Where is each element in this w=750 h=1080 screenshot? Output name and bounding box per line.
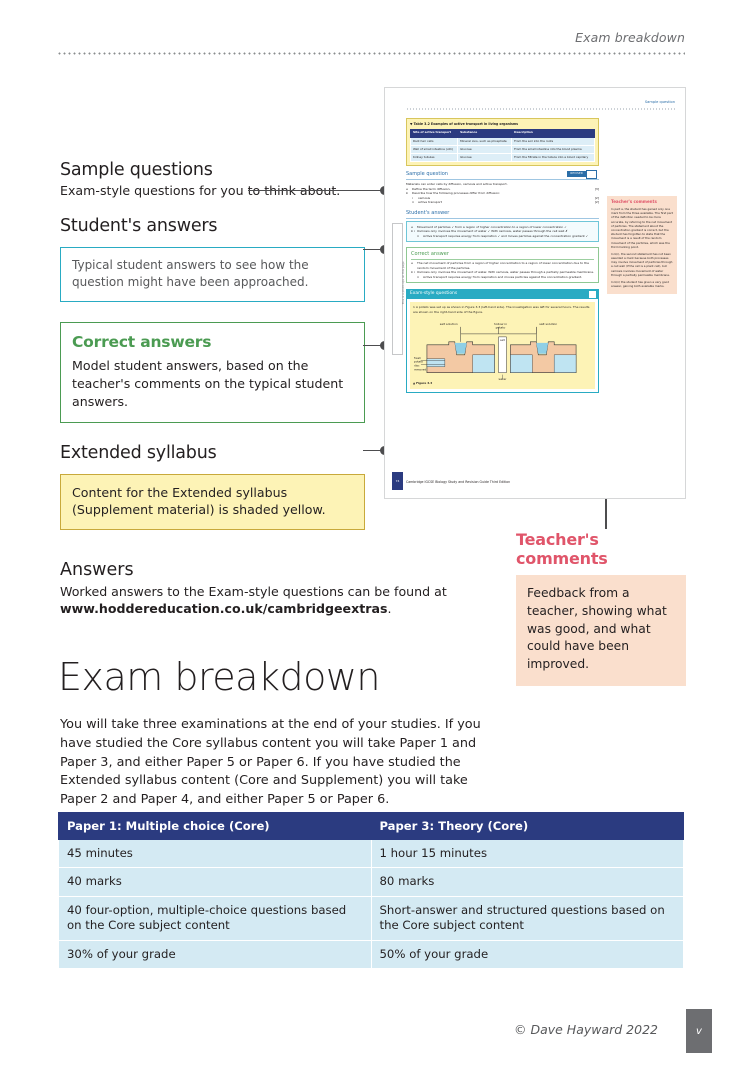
triangle-icon: ▼ [410,122,412,126]
table-cell: 40 four-option, multiple-choice question… [59,896,372,940]
preview-table-row: Kidney tubules Glucose From the filtrate… [411,154,595,162]
preview-table-panel: ▼ Table 3.2 Examples of active transport… [406,118,599,166]
figure-label: removed [414,368,427,372]
table-cell: 1 hour 15 minutes [371,840,684,868]
preview-question-items: a[3]Define the term diffusion. bDescribe… [406,187,599,205]
figure-label: salt solution [539,322,557,326]
preview-figure-caption: ▲ Figure 3.3 [413,382,592,386]
item-text: Describe how the following processes dif… [412,191,500,195]
preview-teacher-comments-box: Teacher's comments In part a, the studen… [607,196,677,294]
preview-students-answer-box: aMovement of particles ✓ from a region o… [406,221,599,243]
item-marks: [2] [595,200,599,205]
preview-teacher-comments-column: Teacher's comments In part a, the studen… [607,196,677,294]
preview-answer-item: iiActive transport requires energy from … [411,275,594,280]
answers-block: Answers Worked answers to the Exam-style… [60,560,480,617]
exam-breakdown-intro: You will take three examinations at the … [60,716,490,810]
teachers-comments-heading: Teacher's comments [516,530,686,568]
preview-figure-panel: 1 A potato was set up as shown in Figure… [410,302,595,389]
table-header-paper1: Paper 1: Multiple choice (Core) [59,813,372,840]
preview-table-caption: ▼ Table 3.2 Examples of active transport… [410,122,595,126]
potato-osmosis-figure: salt solution hollow in potato salt solu… [413,315,592,381]
exam-style-checkbox[interactable] [588,290,597,299]
preview-exam-style-heading: Exam-style questions [410,291,457,296]
preview-answer-item: aThe net movement of particles from a re… [411,261,594,270]
answers-line1: Worked answers to the Exam-style questio… [60,584,447,599]
running-head: Exam breakdown [57,30,685,45]
preview-side-tab: This is a photo ups on this page [392,223,403,355]
extended-syllabus-heading: Extended syllabus [60,443,365,463]
preview-td: From the soil into the roots [512,137,595,145]
item-text: Active transport requires energy from re… [423,275,582,279]
teachers-comments-box: Feedback from a teacher, showing what wa… [516,575,686,686]
preview-table-header-row: Site of active transport Substance Descr… [411,129,595,137]
preview-page-folio: 74 [392,472,403,490]
extended-syllabus-box-text: Content for the Extended syllabus (Suppl… [72,485,326,517]
item-text: active transport [418,200,442,204]
preview-students-answer-items: aMovement of particles ✓ from a region o… [411,225,594,239]
preview-td: From the small intestine into the blood … [512,146,595,154]
preview-teacher-comments-heading: Teacher's comments [611,199,673,205]
figure-label: salt [500,338,505,342]
correct-answers-box: Correct answers Model student answers, b… [60,322,365,423]
preview-book-footer: Cambridge IGCSE Biology Study and Revisi… [406,480,671,484]
item-text: Osmosis only involves the movement of wa… [417,229,568,233]
table-row: 40 four-option, multiple-choice question… [59,896,684,940]
header-dotted-rule [57,52,685,55]
table-cell: 45 minutes [59,840,372,868]
preview-td: Glucose [458,146,512,154]
book-page-preview: Sample question This is a photo ups on t… [384,87,686,499]
teachers-comments-callout: Teacher's comments Feedback from a teach… [516,530,686,686]
item-text: Movement of particles ✓ from a region of… [417,225,567,229]
preview-td: Wall of small intestine (villi) [411,146,458,154]
preview-students-answer-heading: Student's answer [406,210,599,219]
table-header-row: Paper 1: Multiple choice (Core) Paper 3:… [59,813,684,840]
preview-table-row: Wall of small intestine (villi) Glucose … [411,146,595,154]
item-text: The net movement of particles from a reg… [417,261,589,270]
students-answers-box-text: Typical student answers to see how the q… [72,258,309,289]
item-text: osmosis [418,196,430,200]
document-page: Exam breakdown Sample questions Exam-sty… [0,0,750,1080]
item-label: ii [417,275,419,280]
preview-table-row: Root hair cells Mineral ions, such as ph… [411,137,595,145]
table-cell: 40 marks [59,868,372,896]
preview-teacher-comment-paragraph: In b(ii) the student has given a very go… [611,280,673,288]
figure-label: salt solution [440,322,458,326]
preview-table: Site of active transport Substance Descr… [410,129,595,162]
preview-running-head: Sample question [645,100,675,105]
table-cell: 30% of your grade [59,940,372,968]
table-cell: 50% of your grade [371,940,684,968]
figure-label: water [499,377,508,380]
preview-correct-answer-box: Correct answer aThe net movement of part… [406,247,599,283]
page-title: Exam breakdown [58,655,380,699]
revised-badge: REVISED [567,171,586,177]
item-text: Active transport requires energy from re… [423,234,588,238]
answers-url[interactable]: www.hoddereducation.co.uk/cambridgeextra… [60,601,387,616]
answers-heading: Answers [60,560,480,580]
preview-question-stem: Materials can enter cells by diffusion, … [406,182,599,186]
preview-th: Description [512,129,595,137]
revised-checkbox[interactable] [586,170,597,179]
table-row: 45 minutes 1 hour 15 minutes [59,840,684,868]
preview-exam-style-body: 1 A potato was set up as shown in Figure… [406,299,599,393]
table-cell: Short-answer and structured questions ba… [371,896,684,940]
copyright-notice: © Dave Hayward 2022 [514,1022,658,1037]
answers-text: Worked answers to the Exam-style questio… [60,583,480,617]
item-label: a [411,261,413,266]
preview-th: Site of active transport [411,129,458,137]
preview-teacher-comment-paragraph: In part a, the student has gained only o… [611,207,673,249]
table-row: 30% of your grade 50% of your grade [59,940,684,968]
preview-td: Glucose [458,154,512,162]
preview-question-item: ii[2]active transport [406,200,599,205]
preview-td: Kidney tubules [411,154,458,162]
correct-answers-box-text: Model student answers, based on the teac… [72,358,343,409]
table-row: 40 marks 80 marks [59,868,684,896]
preview-correct-answer-heading: Correct answer [411,251,594,260]
preview-correct-answer-items: aThe net movement of particles from a re… [411,261,594,279]
correct-answers-heading: Correct answers [72,331,353,353]
preview-td: Root hair cells [411,137,458,145]
exam-breakdown-table: Paper 1: Multiple choice (Core) Paper 3:… [58,812,684,969]
page-folio: v [686,1009,712,1053]
sample-questions-heading: Sample questions [60,160,365,180]
item-label: ii [412,200,414,205]
preview-table-caption-text: Table 3.2 Examples of active transport i… [414,122,519,126]
preview-th: Substance [458,129,512,137]
students-answers-heading: Student's answers [60,216,365,236]
preview-exam-question-text: 1 A potato was set up as shown in Figure… [413,305,592,314]
extended-syllabus-box: Content for the Extended syllabus (Suppl… [60,474,365,530]
preview-main-column: ▼ Table 3.2 Examples of active transport… [406,114,599,393]
connector-line-sample-questions [248,190,384,191]
preview-td: Mineral ions, such as phosphate [458,137,512,145]
item-text: Osmosis only involves the movement of wa… [417,270,594,274]
figure-label: potato [496,325,506,329]
preview-teacher-comment-paragraph: In b(i), the second statement has not be… [611,252,673,277]
table-header-paper3: Paper 3: Theory (Core) [371,813,684,840]
table-cell: 80 marks [371,868,684,896]
preview-td: From the filtrate in the tubule into a b… [512,154,595,162]
item-label: ii [417,234,419,239]
annotation-column: Sample questions Exam-style questions fo… [60,160,365,530]
item-text: Define the term diffusion. [412,187,451,191]
preview-answer-item: iiActive transport requires energy from … [411,234,594,239]
answers-period: . [387,601,391,616]
preview-exam-style-header: Exam-style questions [406,289,599,299]
preview-dotted-rule [406,108,675,110]
students-answers-box: Typical student answers to see how the q… [60,247,365,302]
